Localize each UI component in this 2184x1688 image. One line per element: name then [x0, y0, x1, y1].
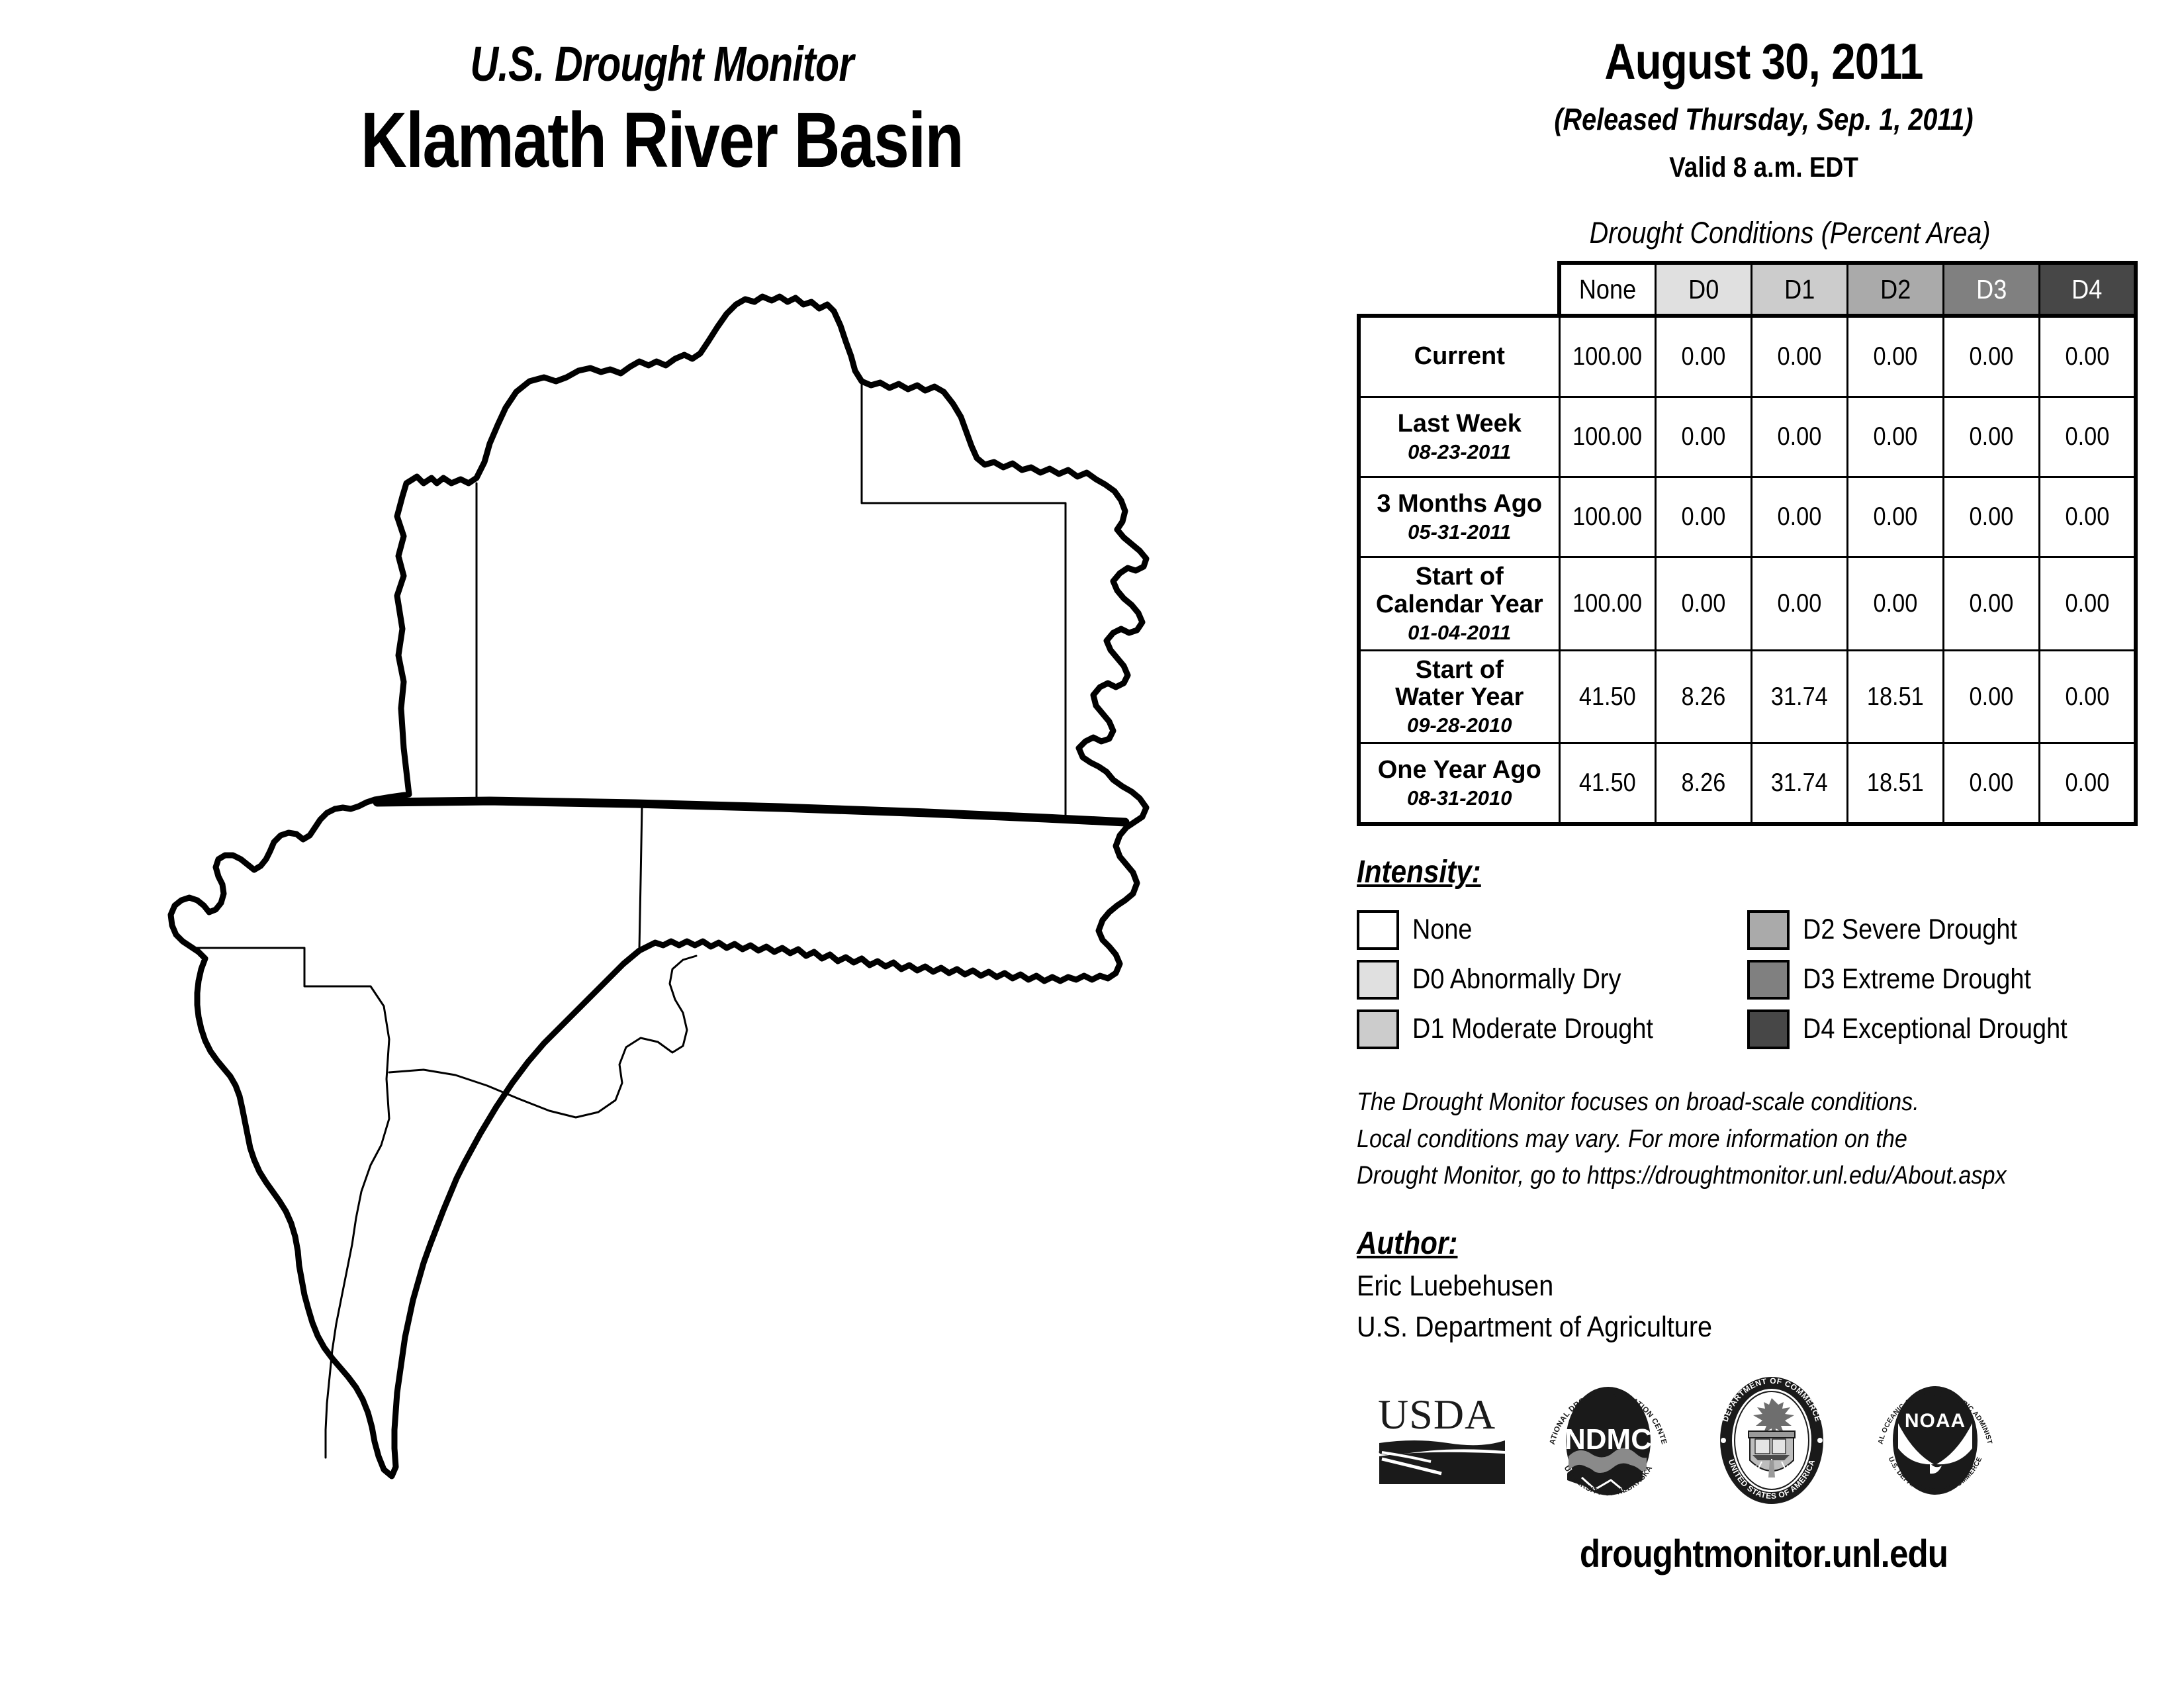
row-label-date: 09-28-2010 [1365, 714, 1555, 737]
author-organization: U.S. Department of Agriculture [1357, 1311, 2089, 1344]
svg-text:USDA: USDA [1378, 1391, 1496, 1438]
cell-none: 41.50 [1559, 743, 1655, 825]
svg-text:NOAA: NOAA [1905, 1410, 1966, 1432]
legend-swatch [1747, 910, 1790, 950]
cell-d3: 0.00 [1944, 650, 2040, 743]
row-label-text: Start ofCalendar Year [1376, 563, 1543, 618]
legend-item: D3 Extreme Drought [1747, 960, 2138, 1000]
col-header-d3: D3 [1944, 263, 2040, 316]
table-row: Start ofWater Year09-28-201041.508.2631.… [1359, 650, 2136, 743]
legend-label: D1 Moderate Drought [1412, 1013, 1653, 1045]
info-panel: August 30, 2011 (Released Thursday, Sep.… [1357, 33, 2171, 1576]
row-label-date: 08-23-2011 [1365, 441, 1555, 463]
table-body: Current100.000.000.000.000.000.00Last We… [1359, 316, 2136, 824]
row-label-text: Start ofWater Year [1395, 656, 1524, 712]
intensity-heading: Intensity: [1357, 854, 2073, 890]
drought-map[interactable] [93, 285, 1277, 1542]
cell-d0: 8.26 [1655, 743, 1751, 825]
legend-label: None [1412, 914, 1472, 946]
cell-d0: 0.00 [1655, 397, 1751, 477]
legend-swatch [1747, 1009, 1790, 1049]
row-label: Start ofWater Year09-28-2010 [1359, 650, 1559, 743]
cell-d2: 0.00 [1847, 397, 1943, 477]
cell-d0: 8.26 [1655, 650, 1751, 743]
cell-d3: 0.00 [1944, 743, 2040, 825]
valid-date: August 30, 2011 [1414, 33, 2114, 91]
legend-item: D4 Exceptional Drought [1747, 1009, 2138, 1049]
cell-d1: 0.00 [1751, 557, 1847, 651]
legend-label: D0 Abnormally Dry [1412, 963, 1621, 996]
row-label: 3 Months Ago05-31-2011 [1359, 477, 1559, 557]
cell-d1: 31.74 [1751, 743, 1847, 825]
cell-d3: 0.00 [1944, 557, 2040, 651]
drought-conditions-table: None D0 D1 D2 D3 D4 Current100.000.000.0… [1357, 261, 2138, 826]
col-header-d4: D4 [2040, 263, 2136, 316]
intensity-legend: NoneD2 Severe DroughtD0 Abnormally DryD3… [1357, 905, 2171, 1054]
col-header-d2: D2 [1847, 263, 1943, 316]
cell-d4: 0.00 [2040, 557, 2136, 651]
row-label-text: 3 Months Ago [1377, 490, 1542, 518]
cell-d4: 0.00 [2040, 397, 2136, 477]
col-header-none: None [1559, 263, 1655, 316]
cell-d4: 0.00 [2040, 316, 2136, 397]
released-date: (Released Thursday, Sep. 1, 2011) [1414, 101, 2114, 137]
row-label: Start ofCalendar Year01-04-2011 [1359, 557, 1559, 651]
table-header-row: None D0 D1 D2 D3 D4 [1359, 263, 2136, 316]
disclaimer-line-3: Drought Monitor, go to https://droughtmo… [1357, 1158, 2089, 1194]
legend-label: D3 Extreme Drought [1803, 963, 2031, 996]
cell-d2: 18.51 [1847, 743, 1943, 825]
klamath-basin-svg [93, 285, 1277, 1542]
cell-d0: 0.00 [1655, 557, 1751, 651]
row-label-text: Current [1414, 342, 1505, 370]
cell-none: 100.00 [1559, 316, 1655, 397]
cell-d1: 0.00 [1751, 477, 1847, 557]
cell-d0: 0.00 [1655, 477, 1751, 557]
author-name: Eric Luebehusen [1357, 1270, 2089, 1303]
cell-d4: 0.00 [2040, 743, 2136, 825]
ndmc-logo[interactable]: NDMC NATIONAL DROUGHT MITIGATION CENTER … [1542, 1373, 1674, 1512]
row-label: One Year Ago08-31-2010 [1359, 743, 1559, 825]
legend-swatch [1357, 960, 1399, 1000]
row-label-date: 08-31-2010 [1365, 787, 1555, 810]
legend-item: D1 Moderate Drought [1357, 1009, 1747, 1049]
disclaimer-line-2: Local conditions may vary. For more info… [1357, 1121, 2089, 1158]
legend-item: None [1357, 910, 1747, 950]
cell-d1: 0.00 [1751, 397, 1847, 477]
legend-label: D4 Exceptional Drought [1803, 1013, 2068, 1045]
usda-logo[interactable]: USDA [1375, 1387, 1508, 1497]
legend-swatch [1747, 960, 1790, 1000]
cell-none: 100.00 [1559, 477, 1655, 557]
author-heading: Author: [1357, 1225, 2073, 1262]
table-row: Current100.000.000.000.000.000.00 [1359, 316, 2136, 397]
col-header-d1: D1 [1751, 263, 1847, 316]
row-label: Last Week08-23-2011 [1359, 397, 1559, 477]
table-corner-cell [1359, 263, 1559, 316]
legend-label: D2 Severe Drought [1803, 914, 2017, 946]
cell-d1: 0.00 [1751, 316, 1847, 397]
cell-d4: 0.00 [2040, 477, 2136, 557]
cell-none: 41.50 [1559, 650, 1655, 743]
disclaimer-text: The Drought Monitor focuses on broad-sca… [1357, 1084, 2089, 1194]
table-row: Start ofCalendar Year01-04-2011100.000.0… [1359, 557, 2136, 651]
row-label: Current [1359, 316, 1559, 397]
cell-d3: 0.00 [1944, 397, 2040, 477]
col-header-d0: D0 [1655, 263, 1751, 316]
legend-swatch [1357, 910, 1399, 950]
table-row: One Year Ago08-31-201041.508.2631.7418.5… [1359, 743, 2136, 825]
svg-text:NDMC: NDMC [1565, 1423, 1652, 1456]
cell-d3: 0.00 [1944, 477, 2040, 557]
map-title-block: U.S. Drought Monitor Klamath River Basin [0, 40, 1324, 184]
noaa-logo[interactable]: NOAA NATIONAL OCEANIC AND ATMOSPHERIC AD… [1869, 1373, 2001, 1512]
cell-d3: 0.00 [1944, 316, 2040, 397]
agency-logos: USDA NDMC NATIONAL DROUGHT MITI [1357, 1373, 2171, 1512]
row-label-text: One Year Ago [1378, 756, 1541, 784]
cell-d2: 0.00 [1847, 557, 1943, 651]
doc-logo[interactable]: DEPARTMENT OF COMMERCE UNITED STATES OF … [1709, 1373, 1835, 1512]
table-caption: Drought Conditions (Percent Area) [1406, 216, 2122, 250]
table-row: 3 Months Ago05-31-2011100.000.000.000.00… [1359, 477, 2136, 557]
legend-item: D2 Severe Drought [1747, 910, 2138, 950]
cell-d2: 0.00 [1847, 316, 1943, 397]
row-label-date: 01-04-2011 [1365, 622, 1555, 644]
legend-item: D0 Abnormally Dry [1357, 960, 1747, 1000]
valid-time: Valid 8 a.m. EDT [1414, 152, 2114, 184]
disclaimer-line-1: The Drought Monitor focuses on broad-sca… [1357, 1084, 2089, 1121]
cell-d2: 0.00 [1847, 477, 1943, 557]
cell-none: 100.00 [1559, 397, 1655, 477]
legend-swatch [1357, 1009, 1399, 1049]
cell-none: 100.00 [1559, 557, 1655, 651]
footer-url[interactable]: droughtmonitor.unl.edu [1406, 1532, 2122, 1576]
cell-d0: 0.00 [1655, 316, 1751, 397]
table-row: Last Week08-23-2011100.000.000.000.000.0… [1359, 397, 2136, 477]
cell-d2: 18.51 [1847, 650, 1943, 743]
region-title: Klamath River Basin [119, 97, 1205, 184]
basin-outline [171, 297, 1146, 1476]
program-title: U.S. Drought Monitor [132, 40, 1191, 89]
row-label-text: Last Week [1398, 410, 1522, 438]
row-label-date: 05-31-2011 [1365, 521, 1555, 543]
cell-d1: 31.74 [1751, 650, 1847, 743]
cell-d4: 0.00 [2040, 650, 2136, 743]
